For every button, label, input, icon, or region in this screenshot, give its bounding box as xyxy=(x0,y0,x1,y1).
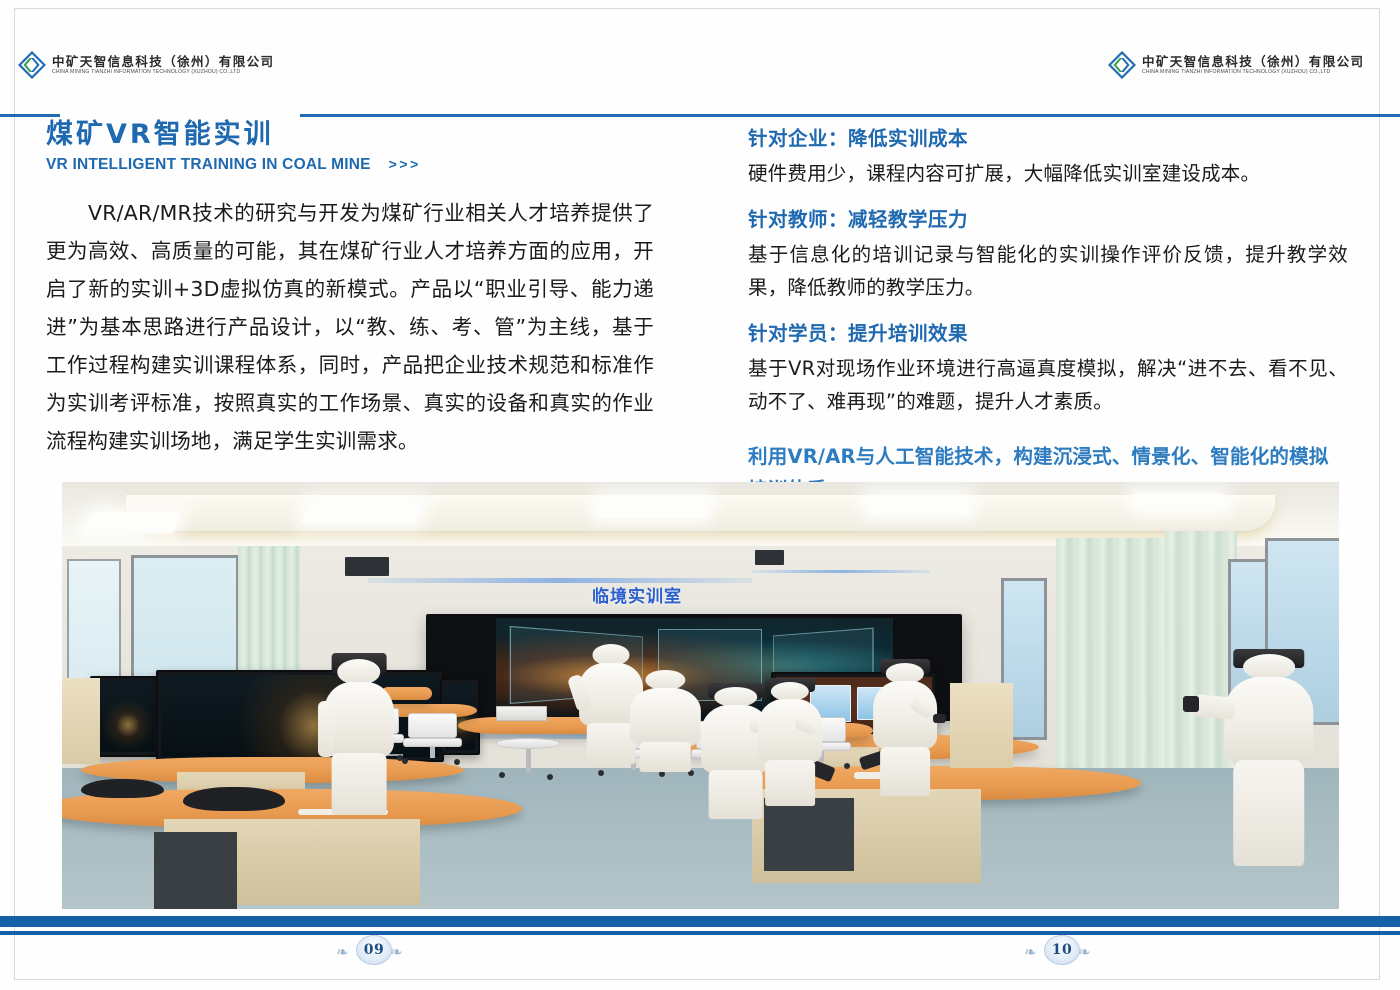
flourish-right-icon: ❧ xyxy=(390,943,403,961)
benefit-group-enterprise: 针对企业：降低实训成本 硬件费用少，课程内容可扩展，大幅降低实训室建设成本。 xyxy=(748,125,1348,190)
ceiling-light-panel xyxy=(83,512,182,533)
ceiling-light-panel xyxy=(301,501,423,524)
benefit-body: 基于信息化的培训记录与智能化的实训操作评价反馈，提升教学效果，降低教师的教学压力… xyxy=(748,238,1348,304)
header-rule-right xyxy=(1352,114,1400,117)
trainee-mannequin xyxy=(758,678,822,806)
benefit-body: 基于VR对现场作业环境进行高逼真度模拟，解决“进不去、看不见、动不了、难再现”的… xyxy=(748,352,1348,418)
trainee-mannequin xyxy=(324,653,394,815)
partition-panel-right xyxy=(950,683,1014,768)
vr-headset-on-desk xyxy=(81,779,164,798)
page-number-badge: 10 xyxy=(1044,935,1080,965)
flourish-left-icon: ❧ xyxy=(336,943,349,961)
trainee-mannequin-seated xyxy=(630,670,700,772)
curtain-right-inner xyxy=(1056,538,1166,803)
company-name-cn: 中矿天智信息科技（徐州）有限公司 xyxy=(52,54,274,69)
ceiling-speaker-icon xyxy=(755,550,783,565)
chevron-triple-icon: >>> xyxy=(389,156,421,172)
room-sign-label: 临境实训室 xyxy=(592,582,682,607)
company-logo-icon xyxy=(1108,51,1136,79)
office-chair xyxy=(400,713,464,769)
company-name-en: CHINA MINING TIANZHI INFORMATION TECHNOL… xyxy=(52,69,274,76)
flourish-left-icon: ❧ xyxy=(1024,943,1037,961)
desk-pc-tower xyxy=(154,832,237,909)
company-logo-icon xyxy=(18,51,46,79)
trainee-mannequin xyxy=(873,659,937,796)
page-number-text: 09 xyxy=(364,942,384,958)
ceiling-light-panel xyxy=(1133,493,1225,510)
page-number-left: ❧ ❧ 09 xyxy=(330,934,420,968)
section-title-en: VR INTELLIGENT TRAINING IN COAL MINE xyxy=(46,156,371,174)
company-name-en: CHINA MINING TIANZHI INFORMATION TECHNOL… xyxy=(1142,69,1364,76)
ceiling-light-panel xyxy=(866,495,969,515)
company-name-block: 中矿天智信息科技（徐州）有限公司 CHINA MINING TIANZHI IN… xyxy=(1142,54,1364,76)
benefit-group-student: 针对学员：提升培训效果 基于VR对现场作业环境进行高逼真度模拟，解决“进不去、看… xyxy=(748,320,1348,418)
desk-pc-tower xyxy=(764,798,853,871)
page-header: 中矿天智信息科技（徐州）有限公司 CHINA MINING TIANZHI IN… xyxy=(0,50,1400,84)
header-rule-left xyxy=(0,114,60,117)
page-number-text: 10 xyxy=(1052,942,1072,958)
footer-bar-thin xyxy=(0,931,1400,935)
right-column: 针对企业：降低实训成本 硬件费用少，课程内容可扩展，大幅降低实训室建设成本。 针… xyxy=(748,125,1348,506)
wall-accent-strip xyxy=(752,570,931,574)
company-name-cn: 中矿天智信息科技（徐州）有限公司 xyxy=(1142,54,1364,69)
left-column: 煤矿VR智能实训 VR INTELLIGENT TRAINING IN COAL… xyxy=(46,118,656,460)
vr-headset-on-desk xyxy=(183,787,285,810)
header-logo-right: 中矿天智信息科技（徐州）有限公司 CHINA MINING TIANZHI IN… xyxy=(1108,50,1364,80)
stool xyxy=(496,738,560,785)
benefit-body: 硬件费用少，课程内容可扩展，大幅降低实训室建设成本。 xyxy=(748,157,1348,190)
intro-paragraph: VR/AR/MR技术的研究与开发为煤矿行业相关人才培养提供了更为高效、高质量的可… xyxy=(46,194,654,460)
footer-bar-thick xyxy=(0,916,1400,927)
ceiling-light-panel xyxy=(597,497,708,518)
page-number-right: ❧ ❧ 10 xyxy=(1018,934,1108,968)
partition-panel-left xyxy=(62,678,100,763)
section-title-cn: 煤矿VR智能实训 xyxy=(46,118,656,152)
section-title-en-row: VR INTELLIGENT TRAINING IN COAL MINE >>> xyxy=(46,156,656,174)
header-rule-center xyxy=(300,114,1390,117)
flourish-right-icon: ❧ xyxy=(1078,943,1091,961)
training-room-photo: 临境实训室 xyxy=(62,482,1339,909)
monitor-screen xyxy=(95,681,155,752)
ceiling-speaker-icon xyxy=(345,557,388,577)
benefit-group-teacher: 针对教师：减轻教学压力 基于信息化的培训记录与智能化的实训操作评价反馈，提升教学… xyxy=(748,206,1348,304)
brochure-page: 中矿天智信息科技（徐州）有限公司 CHINA MINING TIANZHI IN… xyxy=(0,0,1400,990)
mining-sim-monitor xyxy=(90,676,160,757)
benefit-heading: 针对学员：提升培训效果 xyxy=(748,320,1348,348)
benefit-heading: 针对企业：降低实训成本 xyxy=(748,125,1348,153)
page-number-badge: 09 xyxy=(356,935,392,965)
wall-accent-strip xyxy=(368,578,751,583)
company-name-block: 中矿天智信息科技（徐州）有限公司 CHINA MINING TIANZHI IN… xyxy=(52,54,274,76)
header-logo-left: 中矿天智信息科技（徐州）有限公司 CHINA MINING TIANZHI IN… xyxy=(18,50,274,80)
laptop-on-table xyxy=(496,706,547,721)
trainee-mannequin-foreground xyxy=(1224,649,1313,867)
benefit-heading: 针对教师：减轻教学压力 xyxy=(748,206,1348,234)
